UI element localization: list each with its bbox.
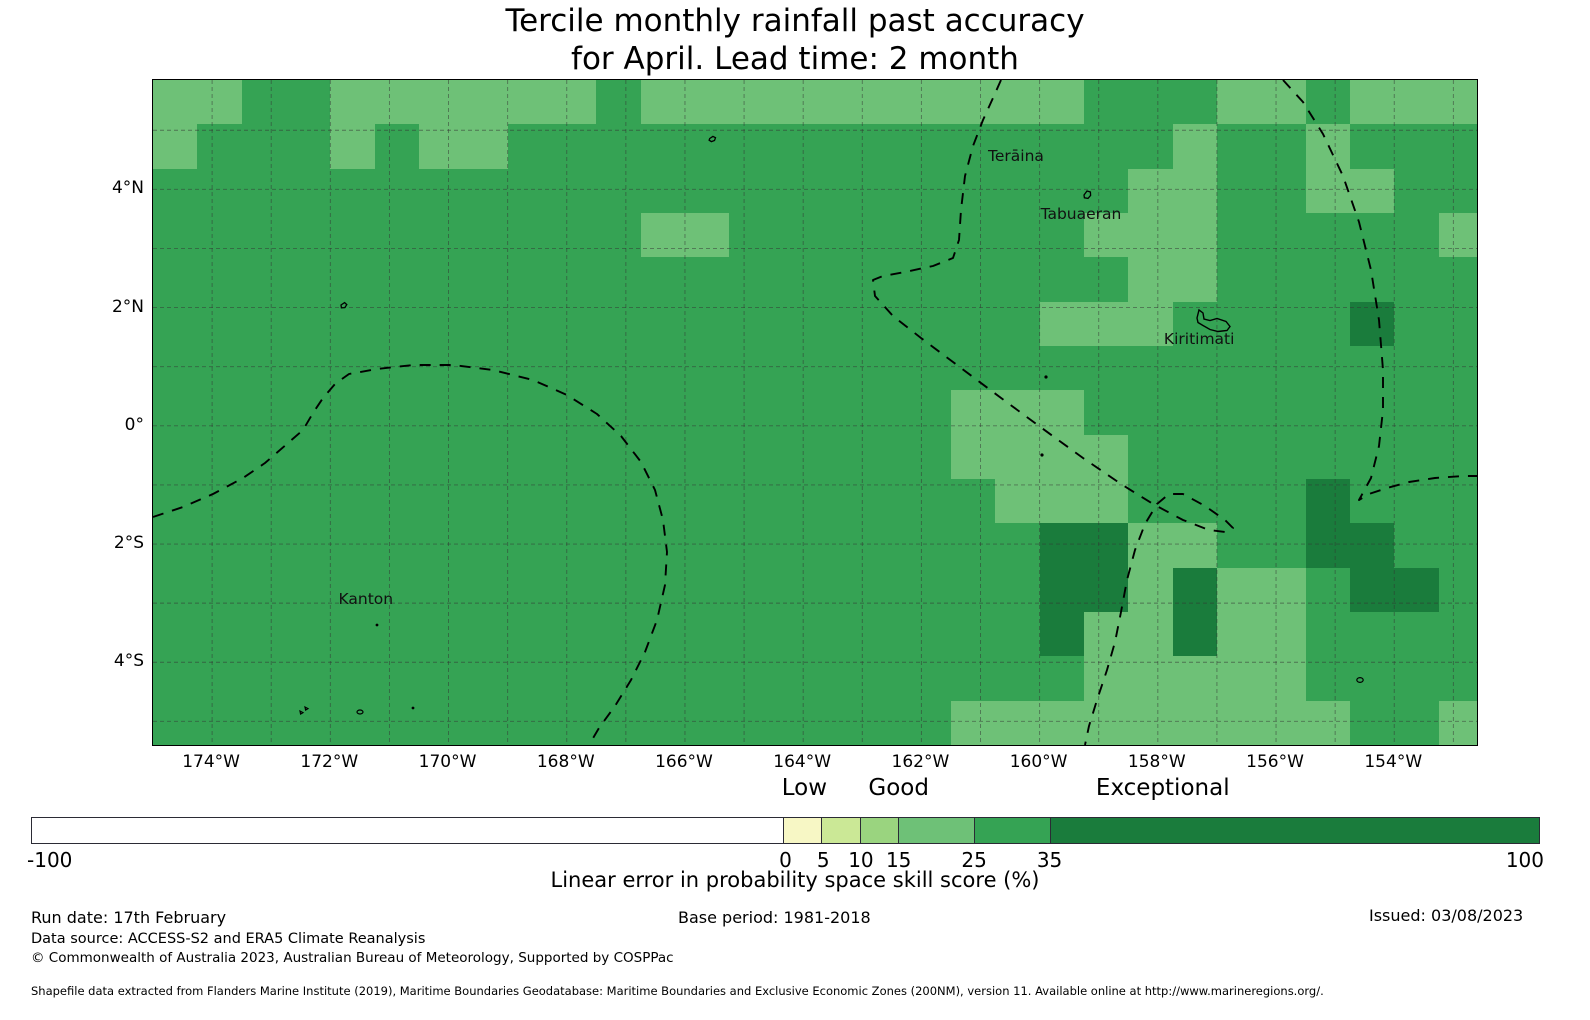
heatmap-cell (818, 213, 863, 258)
heatmap-cell (1040, 701, 1085, 746)
heatmap-cell (1439, 80, 1478, 125)
heatmap-cell (508, 390, 553, 435)
heatmap-cell (197, 435, 242, 480)
heatmap-cell (1261, 656, 1306, 701)
heatmap-cell (995, 701, 1040, 746)
heatmap-cell (1261, 124, 1306, 169)
heatmap-cell (508, 169, 553, 214)
heatmap-cell (907, 701, 952, 746)
heatmap-cell (552, 656, 597, 701)
heatmap-cell (774, 568, 819, 613)
heatmap-cell (508, 568, 553, 613)
heatmap-cell (1439, 479, 1478, 524)
heatmap-cell (596, 612, 641, 657)
heatmap-cell (286, 479, 331, 524)
heatmap-cell (729, 390, 774, 435)
heatmap-cell (1394, 390, 1439, 435)
heatmap-cell (862, 568, 907, 613)
heatmap-cell (552, 568, 597, 613)
heatmap-cell (685, 479, 730, 524)
heatmap-cell (1173, 390, 1218, 435)
heatmap-cell (1217, 257, 1262, 302)
heatmap-cell (1217, 568, 1262, 613)
heatmap-cell (552, 523, 597, 568)
heatmap-cell (951, 656, 996, 701)
heatmap-cell (508, 124, 553, 169)
heatmap-cell (153, 346, 198, 391)
latitude-tick-label: 2°N (112, 297, 144, 317)
heatmap-cell (552, 479, 597, 524)
heatmap-cell (1084, 656, 1129, 701)
heatmap-cell (197, 80, 242, 125)
heatmap-cell (995, 80, 1040, 125)
heatmap-cell (641, 213, 686, 258)
heatmap-cell (1306, 523, 1351, 568)
heatmap-cell (508, 656, 553, 701)
heatmap-cell (153, 568, 198, 613)
heatmap-cell (286, 124, 331, 169)
heatmap-cell (1350, 124, 1395, 169)
heatmap-cell (153, 302, 198, 347)
heatmap-cell (951, 612, 996, 657)
heatmap-cell (463, 124, 508, 169)
heatmap-cell (818, 435, 863, 480)
heatmap-cell (1084, 80, 1129, 125)
heatmap-cell (552, 80, 597, 125)
heatmap-cell (951, 568, 996, 613)
heatmap-cell (685, 568, 730, 613)
heatmap-cell (951, 213, 996, 258)
heatmap-cell (1040, 124, 1085, 169)
heatmap-cell (1128, 346, 1173, 391)
longitude-tick-label: 166°W (655, 752, 713, 772)
heatmap-cell (862, 390, 907, 435)
run-date-text: Run date: 17th February (31, 908, 226, 927)
heatmap-cell (330, 435, 375, 480)
heatmap-cell (596, 479, 641, 524)
heatmap-cell (1261, 302, 1306, 347)
heatmap-cell (685, 701, 730, 746)
heatmap-cell (1306, 213, 1351, 258)
heatmap-cell (1350, 612, 1395, 657)
heatmap-cell (1084, 479, 1129, 524)
colorbar-segment (975, 818, 1051, 843)
heatmap-cell (508, 302, 553, 347)
heatmap-cell (508, 346, 553, 391)
heatmap-cell (641, 80, 686, 125)
heatmap-cell (995, 523, 1040, 568)
heatmap-cell (1173, 568, 1218, 613)
heatmap-cell (818, 124, 863, 169)
heatmap-cell (1040, 302, 1085, 347)
heatmap-cell (1306, 612, 1351, 657)
heatmap-cell (1439, 701, 1478, 746)
heatmap-cell (641, 124, 686, 169)
heatmap-cell (862, 701, 907, 746)
heatmap-cell (375, 656, 420, 701)
heatmap-cell (818, 302, 863, 347)
heatmap-cell (419, 80, 464, 125)
data-source-text: Data source: ACCESS-S2 and ERA5 Climate … (31, 931, 425, 947)
heatmap-cell (1394, 435, 1439, 480)
island-label-kanton: Kanton (338, 590, 393, 608)
heatmap-cell (641, 612, 686, 657)
heatmap-cell (1040, 390, 1085, 435)
heatmap-cell (286, 568, 331, 613)
longitude-tick-label: 162°W (892, 752, 950, 772)
heatmap-cell (685, 257, 730, 302)
heatmap-cell (1128, 435, 1173, 480)
heatmap-cell (153, 390, 198, 435)
heatmap-cell (242, 612, 287, 657)
heatmap-cell (330, 124, 375, 169)
heatmap-cell (862, 612, 907, 657)
heatmap-cell (463, 479, 508, 524)
heatmap-cell (1439, 213, 1478, 258)
heatmap-cell (862, 523, 907, 568)
heatmap-cell (862, 257, 907, 302)
heatmap-cell (1217, 656, 1262, 701)
heatmap-cell (1217, 80, 1262, 125)
longitude-tick-label: 156°W (1246, 752, 1304, 772)
heatmap-cell (242, 213, 287, 258)
heatmap-cell (951, 479, 996, 524)
heatmap-cell (463, 656, 508, 701)
heatmap-cell (330, 346, 375, 391)
heatmap-cell (1350, 568, 1395, 613)
heatmap-cell (552, 124, 597, 169)
heatmap-cell (729, 257, 774, 302)
heatmap-cell (774, 346, 819, 391)
heatmap-cell (375, 80, 420, 125)
heatmap-cell (463, 257, 508, 302)
latitude-tick-label: 4°S (114, 651, 144, 671)
heatmap-cell (774, 435, 819, 480)
heatmap-cell (1439, 568, 1478, 613)
heatmap-cell (242, 257, 287, 302)
heatmap-cell (1040, 612, 1085, 657)
heatmap-cell (729, 612, 774, 657)
heatmap-cell (153, 523, 198, 568)
heatmap-cell (552, 213, 597, 258)
heatmap-cell (596, 656, 641, 701)
heatmap-cell (951, 435, 996, 480)
heatmap-cell (729, 435, 774, 480)
heatmap-cell (774, 479, 819, 524)
heatmap-cell (242, 80, 287, 125)
heatmap-cell (1394, 213, 1439, 258)
heatmap-cell (242, 390, 287, 435)
heatmap-cell (641, 302, 686, 347)
heatmap-cell (907, 346, 952, 391)
heatmap-cell (685, 435, 730, 480)
heatmap-cell (1350, 523, 1395, 568)
heatmap-cell (242, 124, 287, 169)
heatmap-cell (1084, 523, 1129, 568)
heatmap-cell (1128, 80, 1173, 125)
heatmap-cell (1217, 701, 1262, 746)
heatmap-cell (1261, 346, 1306, 391)
heatmap-cell (818, 568, 863, 613)
heatmap-cell (1350, 302, 1395, 347)
heatmap-cell (463, 213, 508, 258)
heatmap-cell (1394, 523, 1439, 568)
heatmap-cell (153, 169, 198, 214)
heatmap-cell (818, 257, 863, 302)
heatmap-cell (729, 213, 774, 258)
heatmap-cell (1261, 390, 1306, 435)
heatmap-cell (862, 656, 907, 701)
heatmap-cell (1439, 169, 1478, 214)
longitude-tick-label: 174°W (182, 752, 240, 772)
heatmap-cell (286, 257, 331, 302)
heatmap-cell (641, 656, 686, 701)
heatmap-cell (153, 80, 198, 125)
map-plot-area: TerāinaTabuaeranKiritimatiKanton (152, 79, 1478, 746)
heatmap-cell (818, 523, 863, 568)
heatmap-cell (1040, 656, 1085, 701)
base-period-text: Base period: 1981-2018 (678, 908, 871, 927)
colorbar-category-low: Low (782, 775, 827, 801)
heatmap-cell (552, 701, 597, 746)
heatmap-cell (1261, 169, 1306, 214)
colorbar-segment (822, 818, 861, 843)
heatmap-cell (1128, 701, 1173, 746)
heatmap-cell (375, 523, 420, 568)
heatmap-cell (1439, 656, 1478, 701)
heatmap-cell (951, 523, 996, 568)
latitude-tick-label: 0° (125, 415, 144, 435)
heatmap-cell (419, 568, 464, 613)
heatmap-cell (242, 523, 287, 568)
heatmap-cell (508, 479, 553, 524)
heatmap-cell (286, 701, 331, 746)
heatmap-cell (419, 346, 464, 391)
heatmap-cell (286, 656, 331, 701)
heatmap-cell (907, 80, 952, 125)
heatmap-cell (1084, 568, 1129, 613)
heatmap-cell (907, 257, 952, 302)
heatmap-cell (419, 612, 464, 657)
heatmap-cell (951, 257, 996, 302)
heatmap-cell (1084, 302, 1129, 347)
heatmap-cell (1350, 656, 1395, 701)
heatmap-cell (1173, 124, 1218, 169)
heatmap-cell (1173, 346, 1218, 391)
heatmap-cell (1128, 213, 1173, 258)
heatmap-cell (1128, 656, 1173, 701)
heatmap-cell (1394, 568, 1439, 613)
heatmap-cell (818, 612, 863, 657)
heatmap-cell (596, 213, 641, 258)
heatmap-cell (995, 257, 1040, 302)
heatmap-cell (862, 479, 907, 524)
heatmap-cell (1350, 257, 1395, 302)
island-label-terina: Terāina (988, 147, 1044, 165)
heatmap-cell (153, 656, 198, 701)
heatmap-cell (375, 435, 420, 480)
heatmap-cell (330, 701, 375, 746)
heatmap-cell (1306, 80, 1351, 125)
heatmap-cell (995, 390, 1040, 435)
heatmap-cell (1128, 479, 1173, 524)
heatmap-cell (641, 479, 686, 524)
heatmap-cell (1173, 169, 1218, 214)
heatmap-cell (1217, 213, 1262, 258)
heatmap-cell (1173, 656, 1218, 701)
heatmap-cell (641, 523, 686, 568)
heatmap-cell (1306, 568, 1351, 613)
heatmap-cell (1040, 479, 1085, 524)
heatmap-cell (1350, 213, 1395, 258)
heatmap-cell (463, 80, 508, 125)
heatmap-cell (729, 80, 774, 125)
heatmap-cell (330, 213, 375, 258)
heatmap-cell (1306, 169, 1351, 214)
heatmap-cell (375, 257, 420, 302)
heatmap-cell (1394, 346, 1439, 391)
heatmap-cell (242, 435, 287, 480)
heatmap-cell (1306, 479, 1351, 524)
heatmap-cell (1128, 523, 1173, 568)
heatmap-cell (774, 701, 819, 746)
heatmap-cell (1350, 169, 1395, 214)
heatmap-cell (685, 213, 730, 258)
heatmap-cell (1439, 124, 1478, 169)
heatmap-cell (818, 656, 863, 701)
heatmap-cell (818, 479, 863, 524)
heatmap-cell (508, 80, 553, 125)
heatmap-cell (552, 612, 597, 657)
heatmap-cell (552, 435, 597, 480)
heatmap-cell (1261, 435, 1306, 480)
heatmap-cell (286, 302, 331, 347)
heatmap-cell (375, 612, 420, 657)
heatmap-cell (729, 124, 774, 169)
heatmap-cell (774, 656, 819, 701)
heatmap-cell (685, 346, 730, 391)
heatmap-cell (419, 257, 464, 302)
heatmap-cell (1084, 390, 1129, 435)
heatmap-cell (1261, 523, 1306, 568)
heatmap-cell (1261, 568, 1306, 613)
longitude-tick-label: 158°W (1128, 752, 1186, 772)
heatmap-cell (907, 390, 952, 435)
heatmap-cell (1306, 701, 1351, 746)
heatmap-cell (286, 612, 331, 657)
heatmap-cell (1040, 346, 1085, 391)
heatmap-cell (818, 701, 863, 746)
colorbar-segment (899, 818, 975, 843)
heatmap-cell (907, 479, 952, 524)
heatmap-cell (286, 435, 331, 480)
heatmap-cell (774, 169, 819, 214)
heatmap-cell (641, 257, 686, 302)
heatmap-cell (818, 80, 863, 125)
heatmap-cell (1394, 302, 1439, 347)
heatmap-cell (1128, 124, 1173, 169)
heatmap-cell (463, 568, 508, 613)
heatmap-cell (1350, 80, 1395, 125)
heatmap-cell (153, 612, 198, 657)
heatmap-cell (862, 346, 907, 391)
heatmap-cell (774, 390, 819, 435)
heatmap-cell (153, 701, 198, 746)
heatmap-cell (286, 523, 331, 568)
heatmap-cell (552, 390, 597, 435)
heatmap-cell (1394, 479, 1439, 524)
heatmap-cell (1306, 390, 1351, 435)
heatmap-cell (286, 213, 331, 258)
heatmap-cell (1261, 701, 1306, 746)
heatmap-cell (596, 302, 641, 347)
heatmap-cell (1084, 435, 1129, 480)
heatmap-cell (907, 213, 952, 258)
heatmap-cell (552, 169, 597, 214)
heatmap-cell (197, 169, 242, 214)
heatmap-cell (685, 612, 730, 657)
heatmap-cell (685, 656, 730, 701)
heatmap-cell (995, 612, 1040, 657)
heatmap-cell (375, 479, 420, 524)
heatmap-cell (419, 523, 464, 568)
heatmap-cell (729, 479, 774, 524)
heatmap-cell (463, 346, 508, 391)
heatmap-cell (463, 390, 508, 435)
heatmap-cell (1439, 435, 1478, 480)
heatmap-cell (375, 169, 420, 214)
heatmap-cell (1084, 612, 1129, 657)
heatmap-cell (197, 479, 242, 524)
colorbar-category-good: Good (868, 775, 929, 801)
heatmap-cell (508, 213, 553, 258)
heatmap-cell (330, 612, 375, 657)
heatmap-cell (818, 390, 863, 435)
heatmap-cell (641, 435, 686, 480)
heatmap-cell (508, 523, 553, 568)
heatmap-cell (951, 701, 996, 746)
colorbar-segment (32, 818, 784, 843)
heatmap-cell (1128, 568, 1173, 613)
heatmap-cell (419, 302, 464, 347)
heatmap-cell (286, 390, 331, 435)
longitude-tick-label: 164°W (773, 752, 831, 772)
heatmap-cell (774, 302, 819, 347)
heatmap-cell (862, 213, 907, 258)
longitude-tick-label: 172°W (300, 752, 358, 772)
heatmap-cell (153, 479, 198, 524)
heatmap-cell (862, 302, 907, 347)
heatmap-cell (197, 124, 242, 169)
heatmap-cell (1394, 80, 1439, 125)
heatmap-cell (685, 390, 730, 435)
heatmap-cell (995, 213, 1040, 258)
heatmap-cell (729, 568, 774, 613)
heatmap-cell (375, 346, 420, 391)
heatmap-cell (951, 302, 996, 347)
heatmap-cell (1084, 257, 1129, 302)
latitude-tick-label: 2°S (114, 533, 144, 553)
heatmap-cell (685, 302, 730, 347)
heatmap-cell (552, 302, 597, 347)
island-label-kiritimati: Kiritimati (1164, 330, 1235, 348)
heatmap-cell (330, 390, 375, 435)
heatmap-cell (330, 523, 375, 568)
heatmap-cell (463, 435, 508, 480)
heatmap-cell (330, 479, 375, 524)
heatmap-cell (153, 213, 198, 258)
heatmap-cell (1439, 346, 1478, 391)
